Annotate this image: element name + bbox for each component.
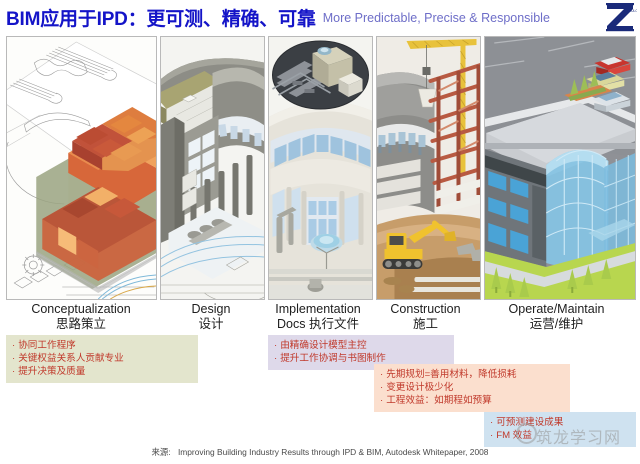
phase-image-conceptualization [6, 36, 157, 300]
bullet-item: 先期规划=善用材料，降低损耗 [380, 368, 564, 381]
caption-design: Design 设计 [159, 302, 263, 332]
caption-en: Conceptualization [6, 302, 156, 317]
caption-zh: 运营/维护 [481, 317, 632, 332]
caption-construction: Construction 施工 [373, 302, 478, 332]
art-finished-building [485, 37, 635, 299]
caption-zh: 设计 [159, 317, 263, 332]
bullet-item: 提升决策及质量 [12, 365, 192, 378]
source-text: Improving Building Industry Results thro… [178, 447, 489, 457]
phase-image-construction [376, 36, 482, 300]
bullet-item: 由精确设计模型主控 [274, 339, 448, 352]
z-logo: ZHULONG [603, 2, 637, 32]
bullet-item: 工程效益：如期程如预算 [380, 394, 564, 407]
bullet-item: FM 效益 [490, 429, 630, 442]
page-subtitle: More Predictable, Precise & Responsible [323, 11, 550, 25]
phase-caption-row: Conceptualization 思路策立 Design 设计 Impleme… [6, 302, 636, 332]
caption-zh: 施工 [373, 317, 478, 332]
phase-image-implementation [268, 36, 373, 300]
caption-zh: 思路策立 [6, 317, 156, 332]
caption-en: Construction [373, 302, 478, 317]
bullet-item: 变更设计极少化 [380, 381, 564, 394]
bullet-item: 关键权益关系人贡献专业 [12, 352, 192, 365]
source-label: 来源: [152, 447, 171, 457]
phase-image-design [160, 36, 265, 300]
phase-image-strip [6, 36, 636, 300]
bullet-block-construction: 先期规划=善用材料，降低损耗 变更设计极少化 工程效益：如期程如预算 [374, 364, 570, 412]
art-construction-site [377, 37, 481, 299]
page-title: BIM应用于IPD：更可测、精确、可靠 [6, 4, 316, 31]
caption-zh: Docs 执行文件 [266, 317, 370, 332]
bullet-block-conceptualization: 协同工作程序 关键权益关系人贡献专业 提升决策及质量 [6, 335, 198, 383]
caption-conceptualization: Conceptualization 思路策立 [6, 302, 156, 332]
svg-text:ZHULONG: ZHULONG [627, 9, 637, 13]
art-isometric-structure [161, 37, 264, 299]
phase-image-operate-maintain [484, 36, 636, 300]
caption-implementation: Implementation Docs 执行文件 [266, 302, 370, 332]
page-header: BIM应用于IPD：更可测、精确、可靠 More Predictable, Pr… [0, 0, 640, 34]
caption-en: Design [159, 302, 263, 317]
bullet-item: 协同工作程序 [12, 339, 192, 352]
bullet-block-operate-maintain: 可预测建设成果 FM 效益 [484, 412, 636, 447]
bullet-item: 可预测建设成果 [490, 416, 630, 429]
caption-en: Operate/Maintain [481, 302, 632, 317]
watermark-ring-icon [516, 423, 537, 444]
source-note: 来源: Improving Building Industry Results … [0, 446, 640, 458]
art-isometric-massing-blocks [7, 37, 156, 299]
caption-en: Implementation [266, 302, 370, 317]
caption-operate-maintain: Operate/Maintain 运营/维护 [481, 302, 632, 332]
art-building-with-mep-inset [269, 37, 372, 299]
